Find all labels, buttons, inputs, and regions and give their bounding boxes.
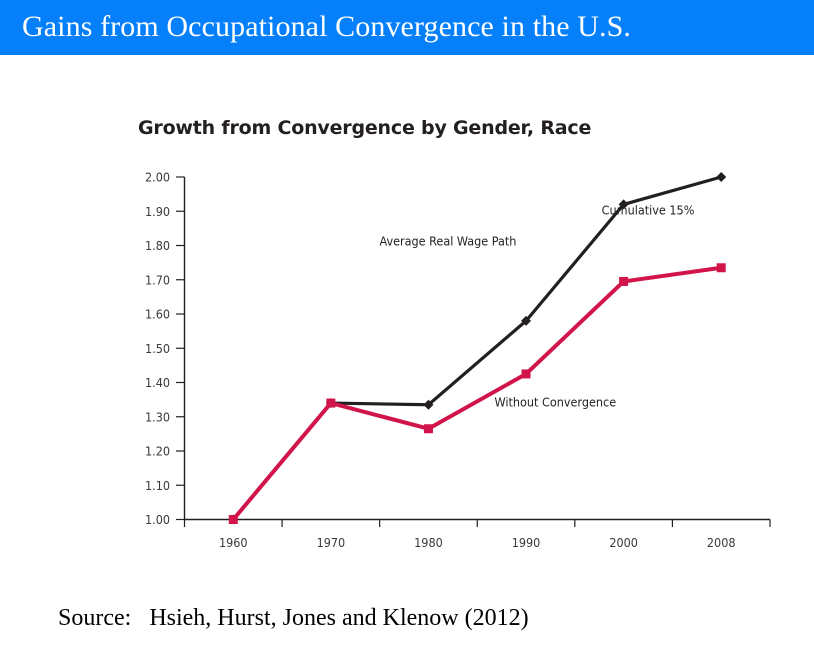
series-marker [424,424,433,433]
y-axis-tick-label: 1.50 [145,341,170,356]
y-axis-tick-label: 1.10 [145,478,170,493]
x-axis-tick-label: 1960 [219,535,248,550]
source-citation: Source: Hsieh, Hurst, Jones and Klenow (… [58,605,529,632]
y-axis-tick-label: 1.80 [145,238,170,253]
series-marker [326,399,335,408]
chart-annotation: Without Convergence [495,394,617,409]
line-chart-plot: 1.001.101.201.301.401.501.601.701.801.90… [0,55,814,585]
x-axis-tick-label: 2008 [707,535,736,550]
series-line [233,177,721,520]
x-axis-tick-label: 1990 [512,535,541,550]
chart-axes [184,177,770,520]
y-axis: 1.001.101.201.301.401.501.601.701.801.90… [145,170,185,528]
y-axis-tick-label: 2.00 [145,170,170,185]
x-axis-tick-label: 1980 [414,535,443,550]
y-axis-tick-label: 1.40 [145,375,170,390]
series-line [233,268,721,520]
slide-canvas: Gains from Occupational Convergence in t… [0,0,814,656]
series-marker [717,263,726,272]
y-axis-tick-label: 1.70 [145,272,170,287]
slide-title-banner: Gains from Occupational Convergence in t… [0,0,814,55]
y-axis-tick-label: 1.00 [145,512,170,527]
series-marker [522,369,531,378]
chart-annotation: Average Real Wage Path [380,234,517,249]
chart-annotation: Cumulative 15% [602,203,695,218]
slide-title: Gains from Occupational Convergence in t… [22,7,631,47]
chart-container: Growth from Convergence by Gender, Race … [0,55,814,585]
series-marker [716,172,726,182]
y-axis-tick-label: 1.60 [145,307,170,322]
y-axis-tick-label: 1.30 [145,409,170,424]
y-axis-tick-label: 1.20 [145,444,170,459]
series-marker [619,277,628,286]
x-axis-tick-label: 2000 [609,535,638,550]
x-axis-tick-label: 1970 [317,535,346,550]
chart-series-group [228,172,726,525]
x-axis: 196019701980199020002008 [185,520,771,551]
y-axis-tick-label: 1.90 [145,204,170,219]
series-marker [229,515,238,524]
